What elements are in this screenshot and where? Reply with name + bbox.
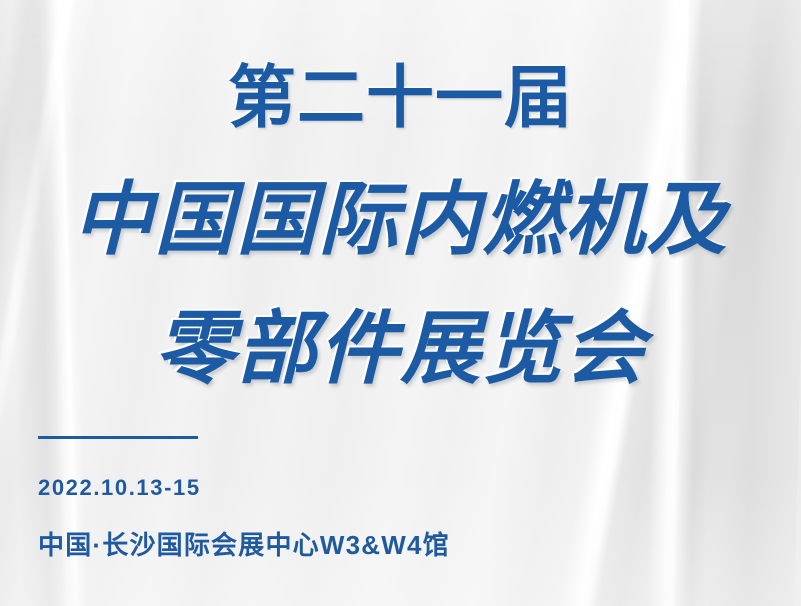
exhibition-poster: 第二十一届 中国国际内燃机及 零部件展览会 2022.10.13-15 中国·长… xyxy=(0,0,801,606)
main-title-line-1: 中国国际内燃机及 xyxy=(0,180,801,260)
edition-title: 第二十一届 xyxy=(0,64,801,132)
poster-content: 第二十一届 中国国际内燃机及 零部件展览会 2022.10.13-15 中国·长… xyxy=(0,0,801,606)
event-venue: 中国·长沙国际会展中心W3&W4馆 xyxy=(38,525,450,562)
main-title-line-2: 零部件展览会 xyxy=(0,309,801,389)
event-date: 2022.10.13-15 xyxy=(38,475,201,501)
divider-rule xyxy=(38,436,198,439)
